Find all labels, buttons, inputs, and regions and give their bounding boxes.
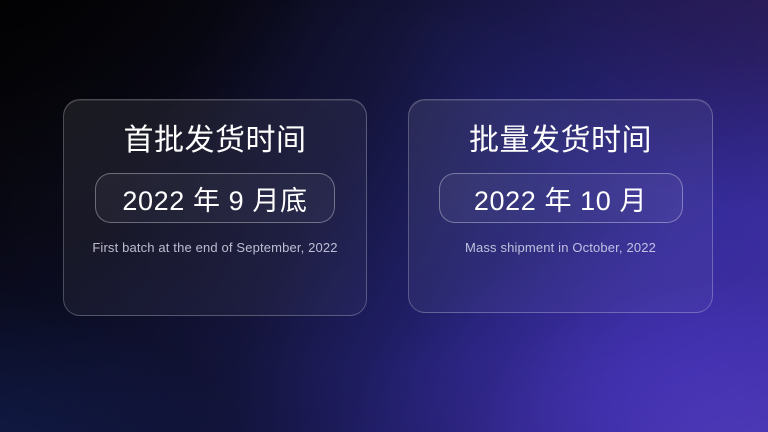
card-caption-first-batch: First batch at the end of September, 202… bbox=[92, 240, 337, 255]
slide-canvas: 首批发货时间 2022 年 9 月底 First batch at the en… bbox=[0, 0, 768, 432]
timeline-cards-row: 首批发货时间 2022 年 9 月底 First batch at the en… bbox=[0, 0, 768, 432]
card-heading-mass-shipment: 批量发货时间 bbox=[469, 123, 652, 158]
date-value-mass-shipment: 2022 年 10 月 bbox=[474, 179, 647, 218]
card-mass-shipment: 批量发货时间 2022 年 10 月 Mass shipment in Octo… bbox=[408, 99, 713, 313]
date-pill-mass-shipment: 2022 年 10 月 bbox=[439, 173, 683, 223]
card-first-batch: 首批发货时间 2022 年 9 月底 First batch at the en… bbox=[63, 99, 367, 316]
card-caption-mass-shipment: Mass shipment in October, 2022 bbox=[465, 240, 656, 255]
card-heading-first-batch: 首批发货时间 bbox=[124, 123, 307, 158]
date-value-first-batch: 2022 年 9 月底 bbox=[122, 179, 307, 218]
date-pill-first-batch: 2022 年 9 月底 bbox=[95, 173, 334, 223]
